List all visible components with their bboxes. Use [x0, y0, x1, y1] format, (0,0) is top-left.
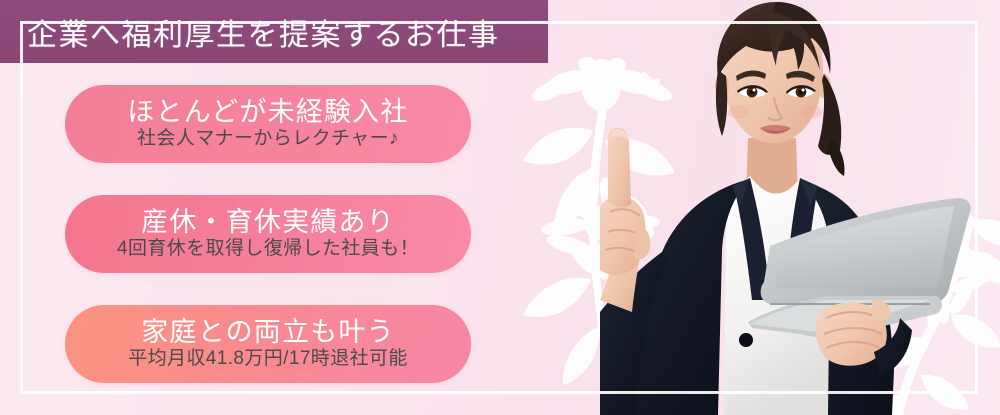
feature-pill-3: 家庭との両立も叶う 平均月収41.8万円/17時退社可能	[65, 305, 471, 383]
feature-pill-1-main: ほとんどが未経験入社	[127, 98, 408, 127]
businesswoman-photo	[600, 0, 1000, 415]
feature-pill-1: ほとんどが未経験入社 社会人マナーからレクチャー♪	[65, 85, 471, 163]
feature-pill-3-main: 家庭との両立も叶う	[141, 318, 395, 347]
feature-pill-3-sub: 平均月収41.8万円/17時退社可能	[128, 349, 408, 370]
page-title: 企業へ福利厚生を提案するお仕事	[0, 10, 500, 54]
feature-pill-2: 産休・育休実績あり 4回育休を取得し復帰した社員も！	[65, 195, 471, 273]
header-bar: 企業へ福利厚生を提案するお仕事	[0, 0, 548, 63]
feature-pill-1-sub: 社会人マナーからレクチャー♪	[137, 129, 399, 150]
job-ad-banner: 企業へ福利厚生を提案するお仕事 ほとんどが未経験入社 社会人マナーからレクチャー…	[0, 0, 1000, 415]
feature-pill-2-sub: 4回育休を取得し復帰した社員も！	[117, 239, 419, 260]
feature-pill-list: ほとんどが未経験入社 社会人マナーからレクチャー♪ 産休・育休実績あり 4回育休…	[65, 85, 471, 383]
feature-pill-2-main: 産休・育休実績あり	[141, 208, 395, 237]
